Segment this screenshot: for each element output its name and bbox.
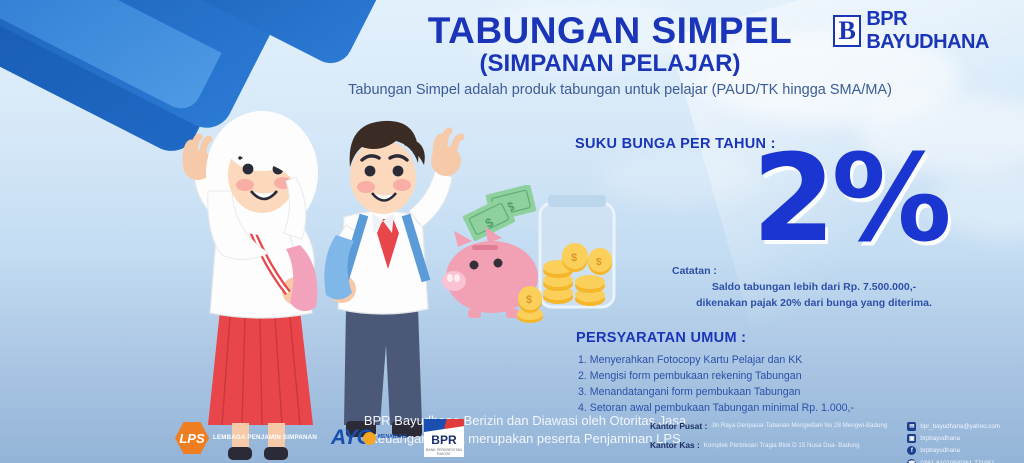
social-row-facebook[interactable]: f brpbayudhana	[907, 446, 1000, 455]
facebook-icon: f	[907, 446, 916, 455]
instagram-text: brpbayudhana	[920, 435, 960, 442]
bpr-badge-sub: BANK PERKREDITAN RAKYAT	[424, 448, 464, 457]
lps-logo-text: LEMBAGA PENJAMIN SIMPANAN	[213, 434, 317, 442]
savings-illustration: $ $ $ $	[430, 185, 630, 325]
phone-text: 0361-810109/0361 771951	[920, 460, 994, 463]
bpr-bank-logo-icon: B	[833, 15, 861, 47]
partner-logos: LPS LEMBAGA PENJAMIN SIMPANAN AYO MENABU…	[175, 419, 464, 457]
social-row-instagram[interactable]: ▣ brpbayudhana	[907, 434, 1000, 443]
office-label: Kantor Pusat :	[650, 422, 707, 430]
email-icon: ✉	[907, 422, 916, 431]
facebook-text: brpbayudhana	[920, 447, 960, 454]
page-title: TABUNGAN SIMPEL	[330, 12, 890, 50]
contact-block: Kantor Pusat : Jln Raya Denpasar-Tabanan…	[650, 422, 1000, 463]
office-addresses: Kantor Pusat : Jln Raya Denpasar-Tabanan…	[650, 422, 887, 463]
office-label: Kantor Kas :	[650, 441, 700, 449]
instagram-icon: ▣	[907, 434, 916, 443]
list-item: 1. Menyerahkan Fotocopy Kartu Pelajar da…	[578, 352, 854, 368]
svg-text:$: $	[596, 257, 602, 268]
bpr-logo-text: BPR BAYUDHANA	[866, 8, 1024, 54]
svg-text:$: $	[526, 294, 532, 306]
poster-root: TABUNGAN SIMPEL (SIMPANAN PELAJAR) Tabun…	[0, 0, 1024, 463]
ayo-menabung-logo: AYO MENABUNG	[331, 426, 410, 450]
bpr-logo-mark: B	[839, 18, 856, 44]
rate-note-heading: Catatan :	[672, 264, 942, 280]
requirements-title: PERSYARATAN UMUM :	[576, 330, 746, 346]
requirements-list: 1. Menyerahkan Fotocopy Kartu Pelajar da…	[578, 352, 854, 416]
interest-rate-label: SUKU BUNGA PER TAHUN :	[575, 136, 776, 152]
bpr-swoosh-icon	[424, 419, 464, 432]
social-row-email[interactable]: ✉ bpr_bayudhana@yahoo.com	[907, 422, 1000, 431]
social-links: ✉ bpr_bayudhana@yahoo.com ▣ brpbayudhana…	[907, 422, 1000, 463]
lps-logo: LPS LEMBAGA PENJAMIN SIMPANAN	[175, 421, 317, 455]
list-item: 2. Mengisi form pembukaan rekening Tabun…	[578, 368, 854, 384]
ayo-dot-icon	[363, 432, 376, 445]
office-value: Komplek Pertokoan Tragia Blok D 15 Nusa …	[704, 443, 860, 449]
bpr-badge-label: BPR	[431, 433, 456, 447]
office-row: Kantor Pusat : Jln Raya Denpasar-Tabanan…	[650, 422, 887, 430]
lps-hexagon-icon: LPS	[175, 421, 209, 455]
bpr-bayudhana-logo: B BPR BAYUDHANA	[833, 8, 1024, 54]
rate-note-body: Saldo tabungan lebih dari Rp. 7.500.000,…	[672, 280, 942, 312]
email-text: bpr_bayudhana@yahoo.com	[920, 423, 1000, 430]
svg-text:$: $	[571, 252, 577, 264]
interest-rate-value: 2%	[752, 140, 948, 260]
page-subtitle: (SIMPANAN PELAJAR)	[330, 50, 890, 78]
ayo-tagline: MENABUNG	[378, 435, 410, 441]
rate-note: Catatan : Saldo tabungan lebih dari Rp. …	[672, 264, 942, 311]
bpr-badge-logo: BPR BANK PERKREDITAN RAKYAT	[424, 419, 464, 457]
office-value: Jln Raya Denpasar-Tabanan Mengwitani No …	[711, 423, 887, 429]
list-item: 3. Menandatangani form pembukaan Tabunga…	[578, 384, 854, 400]
social-row-phone[interactable]: ☎ 0361-810109/0361 771951	[907, 459, 1000, 463]
phone-icon: ☎	[907, 459, 916, 463]
office-row: Kantor Kas : Komplek Pertokoan Tragia Bl…	[650, 441, 887, 449]
